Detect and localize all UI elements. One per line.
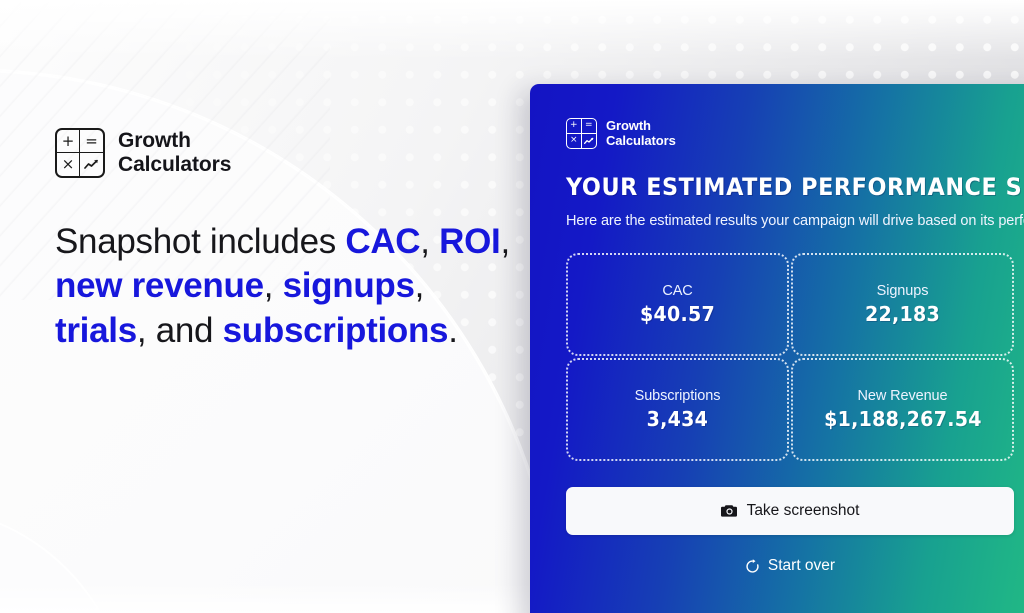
- chart-line-icon: [582, 134, 597, 149]
- metric-tile-new-revenue: New Revenue $1,188,267.54: [791, 358, 1014, 461]
- headline-highlight: trials: [55, 311, 137, 350]
- background-top-fade: [0, 0, 1024, 60]
- metric-label: New Revenue: [858, 388, 948, 404]
- equals-icon: =: [582, 119, 597, 134]
- metrics-grid: CAC $40.57 Signups 22,183 Subscriptions …: [566, 253, 1014, 461]
- metric-tile-subscriptions: Subscriptions 3,434: [566, 358, 789, 461]
- headline-text: ,: [500, 222, 509, 261]
- background-bottom-fade: [0, 583, 530, 613]
- card-subtitle: Here are the estimated results your camp…: [566, 213, 1014, 229]
- headline-text: ,: [420, 222, 439, 261]
- refresh-icon: [745, 559, 760, 574]
- metric-value: $40.57: [640, 302, 715, 326]
- card-brand-lockup: + = × Growth Calculators: [566, 118, 1014, 149]
- headline-text: .: [448, 311, 457, 350]
- metric-value: $1,188,267.54: [824, 407, 982, 431]
- left-panel: + = × Growth Calculators Snapshot includ…: [55, 128, 525, 353]
- brand-lockup: + = × Growth Calculators: [55, 128, 525, 178]
- plus-icon: +: [57, 130, 80, 153]
- times-icon: ×: [567, 134, 582, 149]
- card-calculator-logo-icon: + = ×: [566, 118, 597, 149]
- metric-value: 3,434: [647, 407, 709, 431]
- take-screenshot-button[interactable]: Take screenshot: [566, 487, 1014, 535]
- metric-tile-signups: Signups 22,183: [791, 253, 1014, 356]
- metric-label: Subscriptions: [635, 388, 721, 404]
- metric-value: 22,183: [865, 302, 940, 326]
- start-over-button[interactable]: Start over: [566, 557, 1014, 575]
- camera-icon: [721, 504, 738, 518]
- snapshot-card: + = × Growth Calculators YOUR ESTIMATED …: [530, 84, 1024, 613]
- headline-text: ,: [264, 266, 283, 305]
- metric-tile-cac: CAC $40.57: [566, 253, 789, 356]
- card-brand-name-line1: Growth: [606, 119, 676, 134]
- chart-line-icon: [80, 153, 103, 176]
- headline-highlight: new revenue: [55, 266, 264, 305]
- headline-text: ,: [415, 266, 424, 305]
- card-brand-name-line2: Calculators: [606, 134, 676, 149]
- headline-highlight: signups: [283, 266, 415, 305]
- equals-icon: =: [80, 130, 103, 153]
- take-screenshot-label: Take screenshot: [747, 502, 860, 520]
- metric-label: CAC: [662, 283, 692, 299]
- plus-icon: +: [567, 119, 582, 134]
- brand-name: Growth Calculators: [118, 129, 231, 176]
- metric-label: Signups: [877, 283, 929, 299]
- headline-highlight: CAC: [345, 222, 420, 261]
- headline-prefix: Snapshot includes: [55, 222, 345, 261]
- start-over-label: Start over: [768, 557, 835, 575]
- headline-text: , and: [137, 311, 223, 350]
- brand-name-line2: Calculators: [118, 153, 231, 177]
- card-title: YOUR ESTIMATED PERFORMANCE SNAPSHOT: [566, 173, 983, 201]
- card-brand-name: Growth Calculators: [606, 119, 676, 148]
- brand-name-line1: Growth: [118, 129, 231, 153]
- headline-highlight: subscriptions: [223, 311, 449, 350]
- times-icon: ×: [57, 153, 80, 176]
- calculator-logo-icon: + = ×: [55, 128, 105, 178]
- headline-highlight: ROI: [439, 222, 500, 261]
- page-title: Snapshot includes CAC, ROI, new revenue,…: [55, 220, 515, 353]
- page-root: + = × Growth Calculators Snapshot includ…: [0, 0, 1024, 613]
